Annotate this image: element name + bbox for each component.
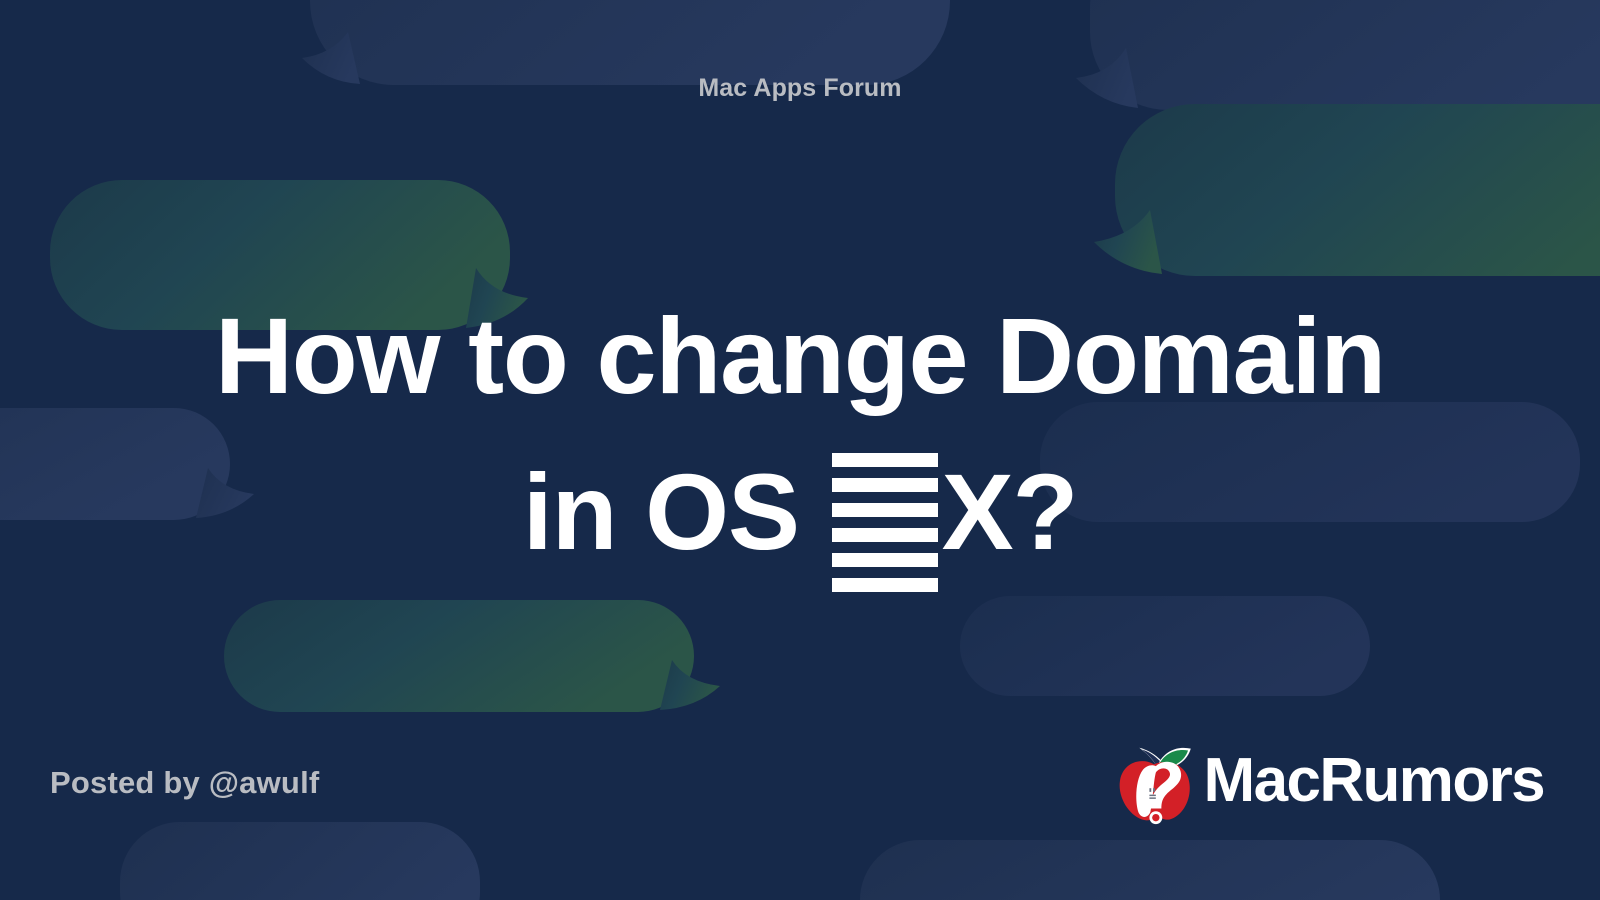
page-title: How to change Domainin OS X? bbox=[60, 278, 1540, 589]
headline-line-2-after: X? bbox=[942, 451, 1078, 572]
missing-glyph-box-icon bbox=[832, 443, 938, 583]
macrumors-logo: MacRumors bbox=[1108, 733, 1544, 825]
macrumors-wordmark: MacRumors bbox=[1204, 750, 1544, 812]
byline: Posted by @awulf bbox=[50, 765, 319, 801]
headline-line-2-before: in OS bbox=[523, 451, 828, 572]
social-share-card: Mac Apps Forum How to change Domainin OS… bbox=[0, 0, 1600, 900]
forum-label: Mac Apps Forum bbox=[0, 74, 1600, 103]
macrumors-apple-icon bbox=[1108, 733, 1200, 825]
apple-questionmark-dot-inner bbox=[1152, 814, 1159, 821]
headline-line-1: How to change Domain bbox=[215, 295, 1385, 416]
